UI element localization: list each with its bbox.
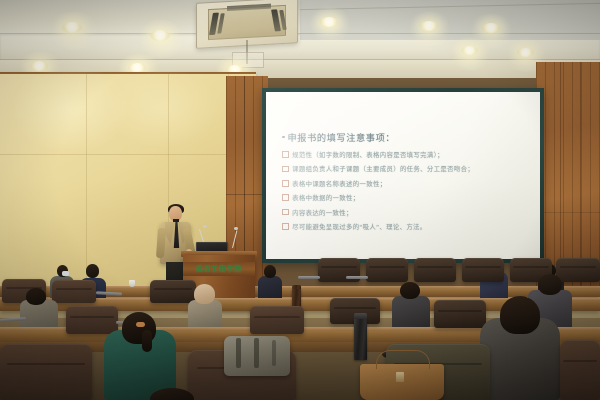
thermos-cap <box>292 285 301 289</box>
lectern-engraved-text: 武汉工商学院 <box>183 263 255 273</box>
chair <box>150 280 196 303</box>
chair <box>414 258 456 282</box>
chair-arm <box>346 276 368 279</box>
slide-bullet: 内容表达的一致性； <box>282 208 532 217</box>
thermos-cap <box>354 313 367 319</box>
slide-bullet-text: 课题组负责人和子课题（主要成员）的任务、分工是否吻合； <box>292 164 474 173</box>
lecture-hall-photo: 申报书的填写注意事项： 规范性（如字数的限制、表格内容是否填写完满）； 课题组负… <box>0 0 600 400</box>
attendee-ponytail <box>142 330 152 352</box>
slide-bullet-text: 表格中课题名称表述的一致性； <box>292 179 386 188</box>
thermos-bottle <box>354 318 367 360</box>
wall-light-pool <box>10 64 130 154</box>
slide-bullet-text: 尽可能避免呈现过多的“吸人”、理论、方法。 <box>292 222 426 231</box>
chair-foreground <box>560 340 600 400</box>
wall-light-pool <box>108 68 218 148</box>
hair-tie <box>136 322 145 327</box>
slide-bullet-text: 内容表达的一致性； <box>292 208 353 217</box>
square-bullet-icon <box>282 151 289 158</box>
slide-bullet-text: 表格中数据的一致性； <box>292 193 359 202</box>
square-bullet-icon <box>282 166 289 173</box>
attendee-head <box>264 265 276 278</box>
slide-title-row: 申报书的填写注意事项： <box>282 130 532 144</box>
chair <box>462 258 504 282</box>
attendee-body <box>392 296 430 328</box>
square-bullet-icon <box>282 180 289 187</box>
attendee-body <box>188 300 222 330</box>
slide-bullet-text: 规范性（如字数的限制、表格内容是否填写完满）； <box>292 150 444 159</box>
square-bullet-icon <box>282 209 289 216</box>
downlight <box>517 48 534 57</box>
bullet-dot-icon <box>282 136 285 139</box>
wall-panel-seam <box>0 154 256 155</box>
backpack-strap <box>236 338 241 368</box>
downlight <box>482 23 500 33</box>
attendee-head <box>538 274 562 295</box>
projection-screen: 申报书的填写注意事项： 规范性（如字数的限制、表格内容是否填写完满）； 课题组负… <box>266 92 540 259</box>
slide-bullet: 表格中数据的一致性； <box>282 193 532 202</box>
downlight <box>30 61 48 71</box>
slide-content: 申报书的填写注意事项： 规范性（如字数的限制、表格内容是否填写完满）； 课题组负… <box>282 130 532 236</box>
attendee-head <box>26 288 46 305</box>
paper-cup <box>129 280 135 287</box>
square-bullet-icon <box>282 223 289 230</box>
square-bullet-icon <box>282 194 289 201</box>
downlight <box>461 46 478 55</box>
attendee-head <box>400 282 420 299</box>
chair <box>52 280 96 303</box>
downlight <box>320 17 338 27</box>
backpack-strap <box>254 338 259 368</box>
downlight <box>150 30 170 41</box>
chair <box>66 306 118 334</box>
chair <box>366 258 408 282</box>
downlight <box>420 21 438 31</box>
chair-foreground <box>0 344 92 400</box>
face-mask-icon <box>62 271 69 276</box>
microphone-capsule <box>234 227 238 230</box>
slide-bullet: 课题组负责人和子课题（主要成员）的任务、分工是否吻合； <box>282 164 532 173</box>
handbag <box>360 364 444 400</box>
handbag-handle <box>376 350 430 369</box>
slide-bullet: 规范性（如字数的限制、表格内容是否填写完满）； <box>282 150 532 159</box>
attendee-head-shaved <box>194 284 215 304</box>
slide-bullet: 表格中课题名称表述的一致性； <box>282 179 532 188</box>
handbag-clasp <box>396 372 404 382</box>
backpack-strap <box>272 340 276 366</box>
ceiling-seam <box>0 59 600 60</box>
attendee-head <box>86 264 99 278</box>
attendee-head <box>500 296 540 334</box>
downlight <box>62 22 82 33</box>
chair <box>250 306 304 334</box>
wood-seam <box>536 212 600 213</box>
ceiling-seam <box>0 33 600 34</box>
chair <box>556 258 600 282</box>
chair-arm <box>298 276 320 279</box>
microphone-capsule <box>203 225 207 228</box>
slide-title: 申报书的填写注意事项： <box>288 130 396 144</box>
chair <box>434 300 486 328</box>
slide-bullet: 尽可能避免呈现过多的“吸人”、理论、方法。 <box>282 222 532 231</box>
